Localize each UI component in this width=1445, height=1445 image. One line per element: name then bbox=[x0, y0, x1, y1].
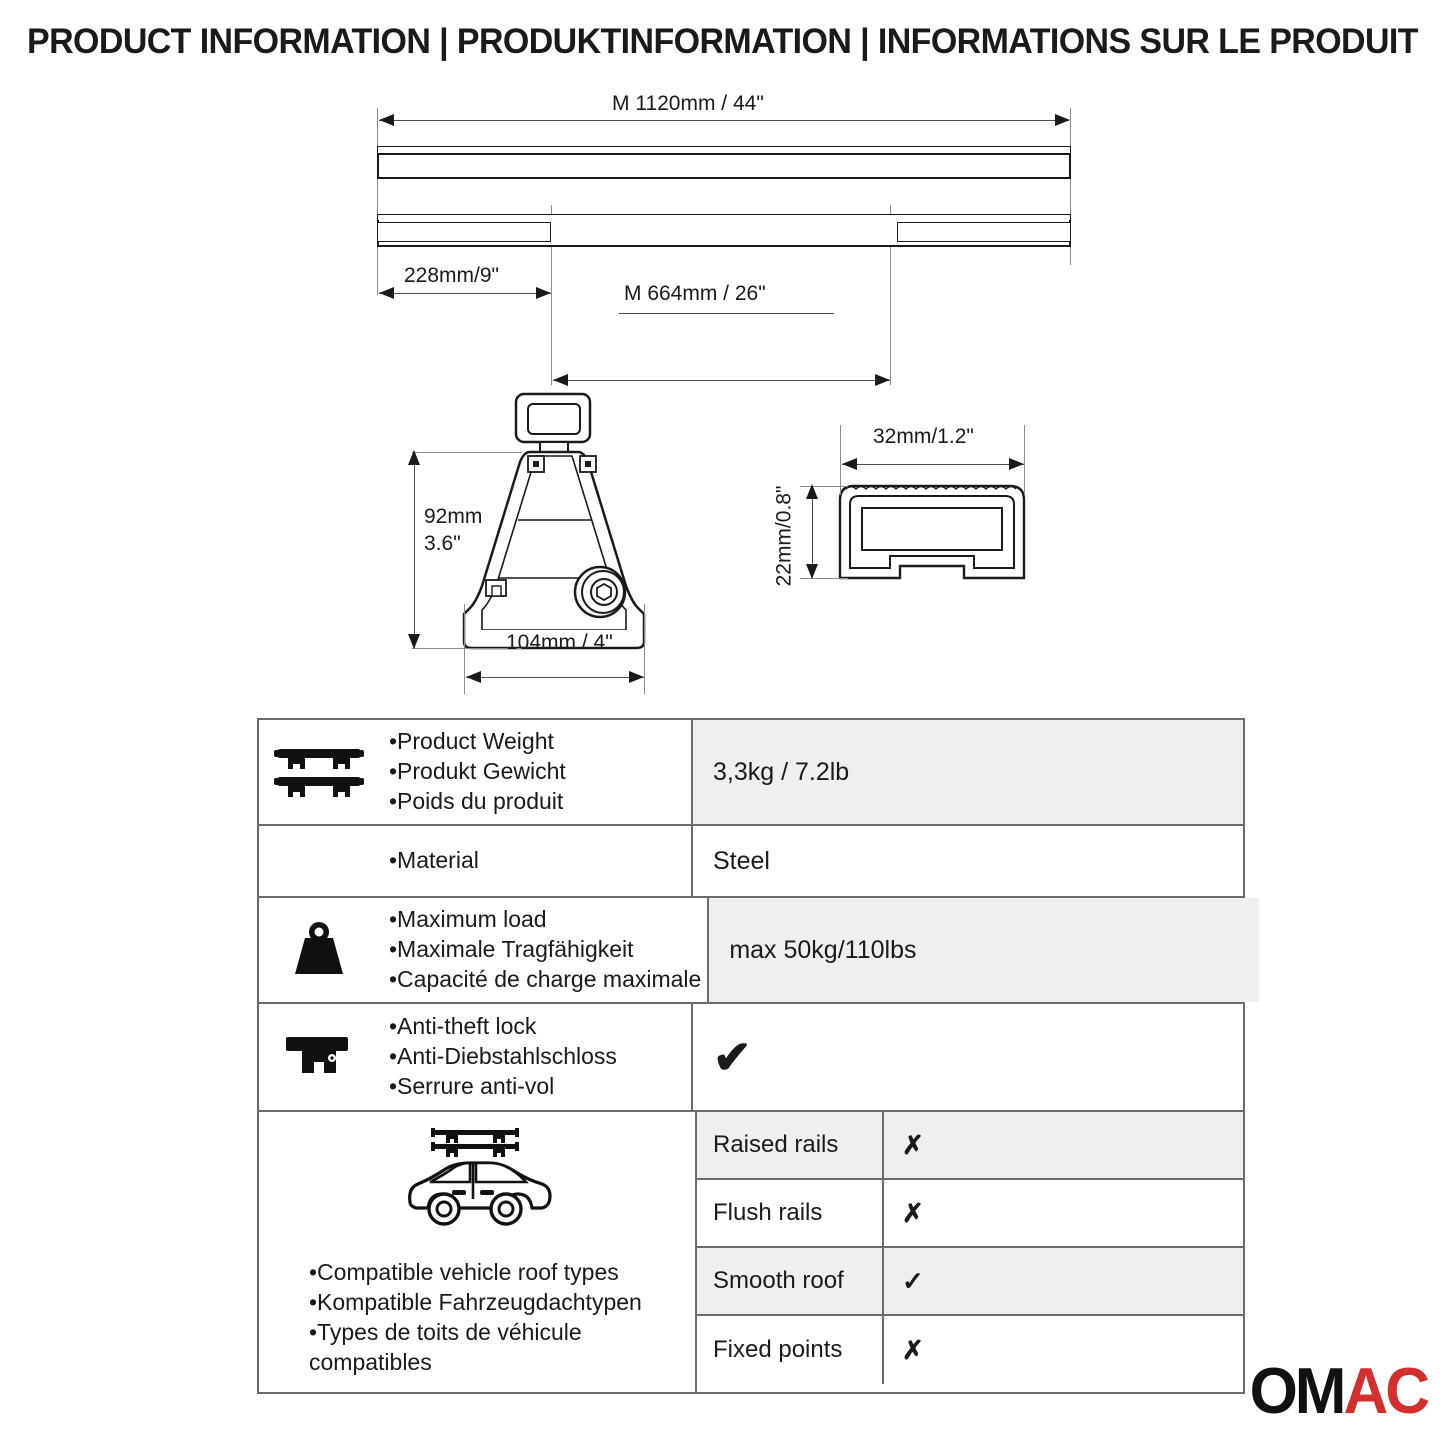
logo-text-red: AC bbox=[1343, 1355, 1427, 1427]
material-icon-cell bbox=[259, 826, 379, 896]
table-row-roof-types: •Compatible vehicle roof types •Kompatib… bbox=[259, 1112, 1243, 1392]
arrow-right-total bbox=[1055, 114, 1070, 126]
anti-theft-lock-labels: •Anti-theft lock •Anti-Diebstahlschloss … bbox=[379, 1004, 691, 1110]
arrow-down-foot-height bbox=[408, 634, 420, 649]
product-information-sheet: PRODUCT INFORMATION | PRODUKTINFORMATION… bbox=[0, 0, 1445, 1445]
technical-drawing: M 1120mm / 44" 228mm/9" M 664mm / 26" bbox=[0, 80, 1445, 710]
dimension-line-foot-height bbox=[414, 452, 415, 648]
label-line: •Types de toits de véhicule bbox=[309, 1318, 687, 1348]
roof-types-left-cell: •Compatible vehicle roof types •Kompatib… bbox=[259, 1112, 695, 1392]
table-row: •Maximum load •Maximale Tragfähigkeit •C… bbox=[259, 898, 1243, 1004]
material-labels: •Material bbox=[379, 826, 691, 896]
crossbar-body-1 bbox=[377, 153, 1071, 179]
arrow-right-offset bbox=[536, 287, 551, 299]
dimension-foot-width: 104mm / 4" bbox=[506, 631, 613, 655]
arrow-right-spread bbox=[875, 374, 890, 386]
specification-table: •Product Weight •Produkt Gewicht •Poids … bbox=[257, 718, 1245, 1394]
dimension-profile-width: 32mm/1.2" bbox=[873, 425, 974, 449]
crossbar-end-segment-left bbox=[377, 222, 551, 242]
product-weight-value: 3,3kg / 7.2lb bbox=[691, 720, 1243, 824]
logo-text-dark: OM bbox=[1250, 1355, 1344, 1427]
table-row: •Anti-theft lock •Anti-Diebstahlschloss … bbox=[259, 1004, 1243, 1112]
dimension-total-length: M 1120mm / 44" bbox=[612, 92, 764, 116]
roof-type-fixed-points: Fixed points ✗ bbox=[697, 1316, 1243, 1384]
profile-cross-section bbox=[832, 470, 1032, 610]
lock-foot-icon bbox=[282, 1033, 356, 1081]
roof-type-name: Fixed points bbox=[697, 1316, 882, 1384]
weight-icon bbox=[288, 920, 350, 980]
arrow-left-offset bbox=[379, 287, 394, 299]
roof-type-name: Smooth roof bbox=[697, 1248, 882, 1314]
checkmark-icon: ✔ bbox=[713, 1034, 752, 1080]
roof-type-mark: ✗ bbox=[882, 1112, 1243, 1178]
table-row: •Material Steel bbox=[259, 826, 1243, 898]
label-line: •Capacité de charge maximale bbox=[389, 965, 701, 995]
label-line: •Poids du produit bbox=[389, 787, 685, 817]
label-line: •Product Weight bbox=[389, 727, 685, 757]
crossbar-end-segment-right bbox=[897, 222, 1071, 242]
roof-type-raised-rails: Raised rails ✗ bbox=[697, 1112, 1243, 1180]
dimension-line-total-length bbox=[379, 120, 1069, 121]
extension-line-profile-right bbox=[1024, 425, 1025, 495]
label-line: •Anti-theft lock bbox=[389, 1012, 685, 1042]
arrow-left-profile-width bbox=[842, 458, 857, 470]
label-line: compatibles bbox=[309, 1348, 687, 1378]
arrow-left-foot-width bbox=[466, 671, 481, 683]
arrow-left-spread bbox=[553, 374, 568, 386]
label-line: •Compatible vehicle roof types bbox=[309, 1258, 687, 1288]
roof-type-mark: ✗ bbox=[882, 1180, 1243, 1246]
extension-line-foot-left bbox=[464, 604, 465, 694]
maximum-load-labels: •Maximum load •Maximale Tragfähigkeit •C… bbox=[379, 898, 707, 1002]
page-header: PRODUCT INFORMATION | PRODUKTINFORMATION… bbox=[0, 22, 1445, 62]
roof-types-list: Raised rails ✗ Flush rails ✗ Smooth roof… bbox=[695, 1112, 1243, 1392]
roof-types-labels: •Compatible vehicle roof types •Kompatib… bbox=[267, 1258, 687, 1378]
extension-line-foot-top bbox=[412, 452, 522, 453]
car-with-rack-icon bbox=[396, 1124, 558, 1232]
roof-type-smooth-roof: Smooth roof ✓ bbox=[697, 1248, 1243, 1316]
anti-theft-lock-icon-cell bbox=[259, 1004, 379, 1110]
two-crossbars-icon bbox=[273, 744, 365, 800]
page-title: PRODUCT INFORMATION | PRODUKTINFORMATION… bbox=[22, 22, 1424, 62]
dimension-underline-spread bbox=[619, 313, 834, 314]
dimension-foot-height-in: 3.6" bbox=[424, 532, 461, 556]
extension-line-foot-right bbox=[644, 604, 645, 694]
arrow-up-foot-height bbox=[408, 450, 420, 465]
product-weight-labels: •Product Weight •Produkt Gewicht •Poids … bbox=[379, 720, 691, 824]
arrow-left-total bbox=[379, 114, 394, 126]
label-line: •Produkt Gewicht bbox=[389, 757, 685, 787]
roof-type-name: Flush rails bbox=[697, 1180, 882, 1246]
arrow-up-profile-height bbox=[806, 484, 818, 499]
arrow-right-profile-width bbox=[1009, 458, 1024, 470]
roof-type-flush-rails: Flush rails ✗ bbox=[697, 1180, 1243, 1248]
dimension-line-end-offset bbox=[379, 293, 551, 294]
label-line: •Maximale Tragfähigkeit bbox=[389, 935, 701, 965]
dimension-line-profile-width bbox=[842, 464, 1024, 465]
anti-theft-lock-value: ✔ bbox=[691, 1004, 1243, 1110]
roof-type-mark: ✗ bbox=[882, 1316, 1243, 1384]
arrow-down-profile-height bbox=[806, 564, 818, 579]
dimension-spread: M 664mm / 26" bbox=[624, 282, 766, 306]
maximum-load-value: max 50kg/110lbs bbox=[707, 898, 1259, 1002]
dimension-end-offset: 228mm/9" bbox=[404, 264, 499, 288]
material-value: Steel bbox=[691, 826, 1243, 896]
label-line: •Serrure anti-vol bbox=[389, 1072, 685, 1102]
label-line: •Anti-Diebstahlschloss bbox=[389, 1042, 685, 1072]
dimension-line-spread bbox=[553, 380, 890, 381]
table-row: •Product Weight •Produkt Gewicht •Poids … bbox=[259, 720, 1243, 826]
roof-type-mark: ✓ bbox=[882, 1248, 1243, 1314]
label-line: •Maximum load bbox=[389, 905, 701, 935]
product-weight-icon-cell bbox=[259, 720, 379, 824]
maximum-load-icon-cell bbox=[259, 898, 379, 1002]
extension-line-profile-left bbox=[840, 425, 841, 495]
label-line: •Material bbox=[389, 846, 685, 876]
dimension-line-foot-width bbox=[466, 677, 644, 678]
arrow-right-foot-width bbox=[629, 671, 644, 683]
dimension-foot-height-mm: 92mm bbox=[424, 505, 482, 529]
dimension-profile-height: 22mm/0.8" bbox=[772, 486, 796, 587]
label-line: •Kompatible Fahrzeugdachtypen bbox=[309, 1288, 687, 1318]
roof-type-name: Raised rails bbox=[697, 1112, 882, 1178]
omac-logo: OMAC bbox=[1250, 1359, 1427, 1424]
